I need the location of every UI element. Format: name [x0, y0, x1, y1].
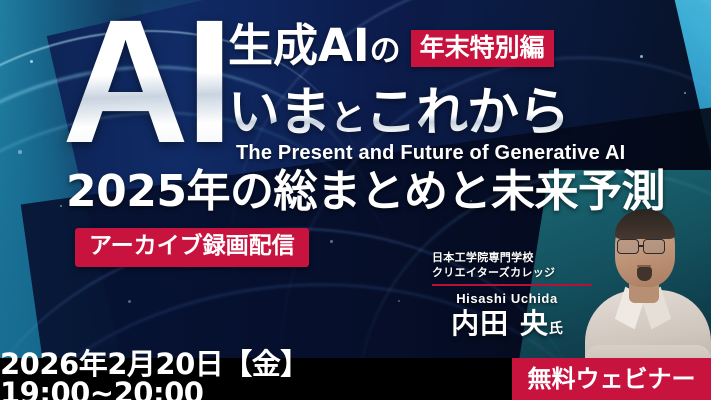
free-webinar-badge[interactable]: 無料ウェビナー: [512, 358, 711, 400]
glasses-icon: [643, 239, 665, 254]
speaker-name-romaji: Hisashi Uchida: [432, 291, 582, 306]
headline-english-subtitle: The Present and Future of Generative AI: [236, 142, 625, 164]
glasses-icon: [617, 239, 639, 254]
footer-bar: 2026年2月20日【金】19:00~20:00 無料ウェビナー: [0, 358, 711, 400]
speaker-block: 日本工学院専門学校 クリエイターズカレッジ Hisashi Uchida 内田 …: [432, 250, 592, 345]
event-datetime: 2026年2月20日【金】19:00~20:00: [0, 358, 512, 400]
archive-recording-badge: アーカイブ録画配信: [75, 228, 309, 267]
ai-logo-mark: AI: [62, 0, 230, 170]
speaker-name-japanese: 内田 央氏: [432, 308, 582, 345]
webinar-banner: AI 生成AIの 年末特別編 いまとこれから The Present and F…: [0, 0, 711, 400]
portrait-hair: [615, 209, 675, 239]
portrait-goatee: [637, 267, 652, 281]
special-edition-badge: 年末特別編: [411, 30, 554, 67]
speaker-org-line2: クリエイターズカレッジ: [432, 265, 592, 280]
speaker-portrait-photo: [571, 195, 711, 365]
headline-line2: いまとこれから: [228, 86, 569, 146]
glasses-bridge: [639, 245, 644, 247]
headline-line1: 生成AIの: [228, 22, 401, 75]
speaker-org-line1: 日本工学院専門学校: [432, 250, 592, 265]
headline-row-1: 生成AIの 年末特別編: [228, 22, 554, 75]
speaker-divider: [432, 284, 592, 286]
speaker-organization: 日本工学院専門学校 クリエイターズカレッジ: [432, 250, 592, 280]
